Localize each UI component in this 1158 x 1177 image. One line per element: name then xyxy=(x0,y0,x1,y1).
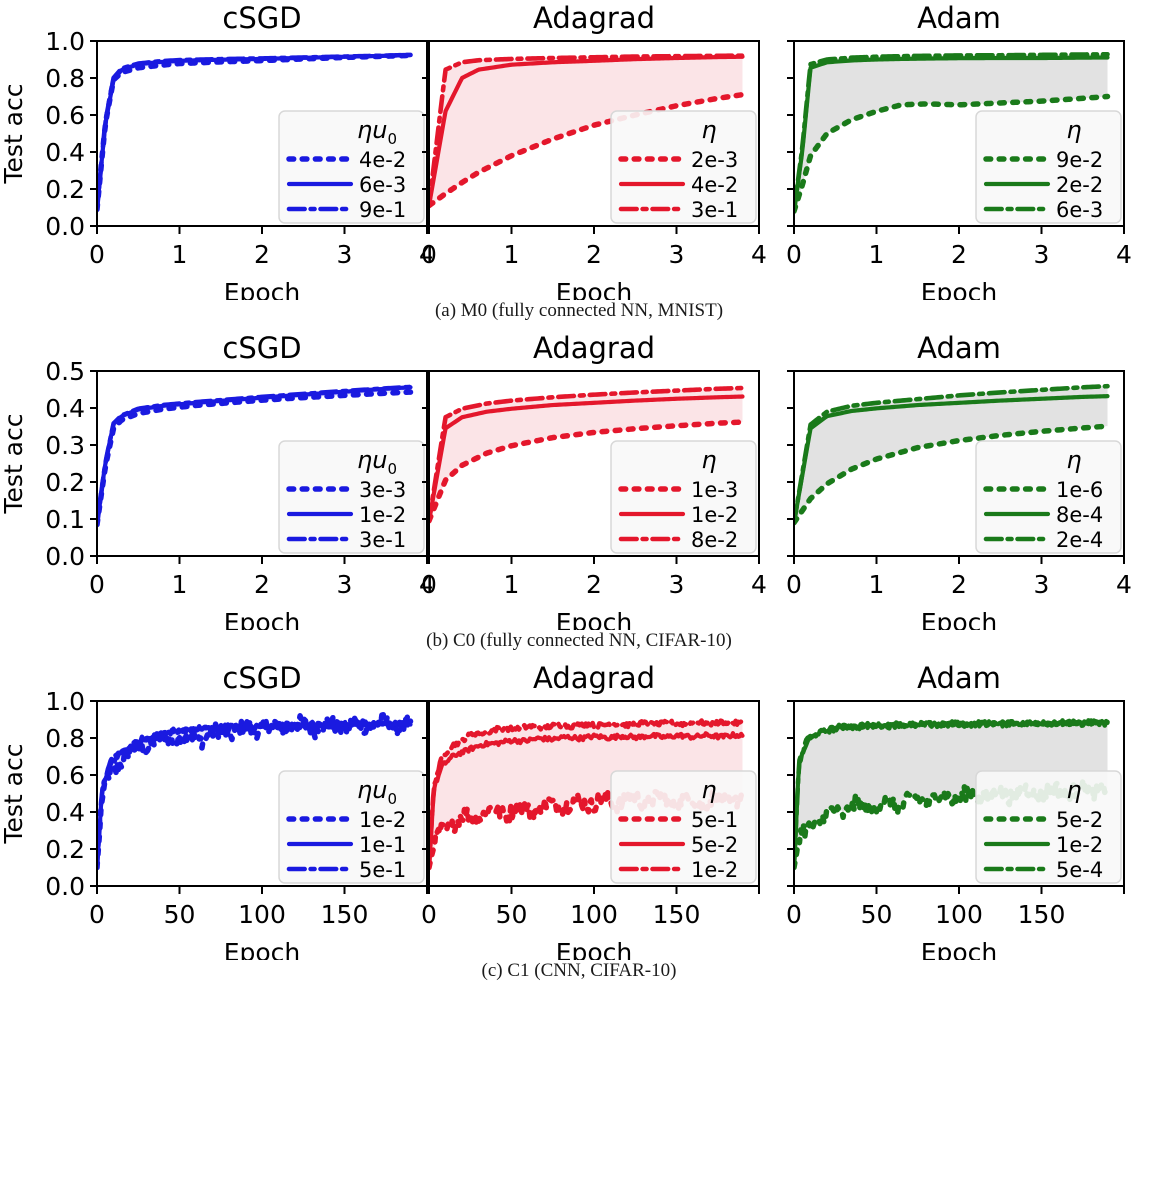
legend-label: 2e-3 xyxy=(691,148,738,172)
panel-adam: Adam01234Epochη1e-68e-42e-4 xyxy=(741,330,1158,630)
panel-adagrad: Adagrad050100150Epochη5e-15e-21e-2 xyxy=(373,660,773,960)
x-axis-label: Epoch xyxy=(556,938,633,960)
row-c: cSGD0.00.20.40.60.81.0050100150EpochTest… xyxy=(0,660,1158,990)
panel-row: cSGD0.00.20.40.60.81.001234EpochTest acc… xyxy=(0,0,1158,300)
panel-adagrad: Adagrad01234Epochη1e-31e-28e-2 xyxy=(373,330,773,630)
legend-title: η xyxy=(1066,116,1081,144)
x-tick-label: 100 xyxy=(570,900,618,929)
legend-title: η xyxy=(1066,446,1081,474)
panel-title: cSGD xyxy=(222,1,301,35)
x-tick-label: 1 xyxy=(504,570,520,599)
legend-label: 1e-2 xyxy=(691,503,738,527)
row-b: cSGD0.00.10.20.30.40.501234EpochTest acc… xyxy=(0,330,1158,660)
y-tick-label: 0.4 xyxy=(45,138,85,167)
x-tick-label: 2 xyxy=(586,240,602,269)
legend: η2e-34e-23e-1 xyxy=(611,111,756,223)
legend-label: 1e-2 xyxy=(691,858,738,882)
panel-csgd: cSGD0.00.20.40.60.81.0050100150EpochTest… xyxy=(0,660,432,960)
y-tick-label: 0.1 xyxy=(45,505,85,534)
plot-row-b-adagrad: Adagrad01234Epochη1e-31e-28e-2 xyxy=(373,330,773,630)
legend-label: 2e-4 xyxy=(1056,528,1103,552)
panel-adagrad: Adagrad01234Epochη2e-34e-23e-1 xyxy=(373,0,773,300)
x-axis-label: Epoch xyxy=(556,278,633,300)
x-tick-label: 150 xyxy=(321,900,369,929)
x-axis-label: Epoch xyxy=(921,608,998,630)
x-tick-label: 2 xyxy=(951,570,967,599)
legend: η9e-22e-26e-3 xyxy=(976,111,1121,223)
x-tick-label: 0 xyxy=(89,900,105,929)
y-tick-label: 0.2 xyxy=(45,175,85,204)
plot-row-c-csgd: cSGD0.00.20.40.60.81.0050100150EpochTest… xyxy=(0,660,432,960)
panel-csgd: cSGD0.00.20.40.60.81.001234EpochTest acc… xyxy=(0,0,432,300)
legend: η1e-31e-28e-2 xyxy=(611,441,756,553)
x-tick-label: 150 xyxy=(1018,900,1066,929)
panel-title: Adagrad xyxy=(533,331,655,365)
legend-label: 1e-2 xyxy=(1056,833,1103,857)
x-tick-label: 1 xyxy=(869,570,885,599)
legend-label: 8e-2 xyxy=(691,528,738,552)
x-tick-label: 50 xyxy=(861,900,893,929)
legend-label: 9e-2 xyxy=(1056,148,1103,172)
legend-title: η xyxy=(701,776,716,804)
panel-title: Adam xyxy=(917,1,1001,35)
plot-row-b-adam: Adam01234Epochη1e-68e-42e-4 xyxy=(741,330,1158,630)
legend-title: η xyxy=(701,116,716,144)
x-tick-label: 3 xyxy=(669,240,685,269)
x-tick-label: 0 xyxy=(89,570,105,599)
y-tick-label: 0.2 xyxy=(45,835,85,864)
panel-csgd: cSGD0.00.10.20.30.40.501234EpochTest acc… xyxy=(0,330,432,630)
x-tick-label: 0 xyxy=(786,240,802,269)
plot-row-a-adam: Adam01234Epochη9e-22e-26e-3 xyxy=(741,0,1158,300)
x-tick-label: 1 xyxy=(504,240,520,269)
y-tick-label: 0.6 xyxy=(45,761,85,790)
x-axis-label: Epoch xyxy=(921,278,998,300)
legend-title: η xyxy=(1066,776,1081,804)
y-tick-label: 0.2 xyxy=(45,468,85,497)
y-axis-label: Test acc xyxy=(0,744,28,845)
x-tick-label: 100 xyxy=(238,900,286,929)
legend-label: 5e-4 xyxy=(1056,858,1103,882)
x-tick-label: 0 xyxy=(421,900,437,929)
legend-title: η xyxy=(701,446,716,474)
panel-title: cSGD xyxy=(222,331,301,365)
x-tick-label: 50 xyxy=(496,900,528,929)
y-tick-label: 0.0 xyxy=(45,872,85,901)
panel-title: Adam xyxy=(917,331,1001,365)
x-tick-label: 0 xyxy=(786,570,802,599)
plot-row-b-csgd: cSGD0.00.10.20.30.40.501234EpochTest acc… xyxy=(0,330,432,630)
legend-label: 1e-3 xyxy=(691,478,738,502)
x-tick-label: 3 xyxy=(337,240,353,269)
plot-row-a-csgd: cSGD0.00.20.40.60.81.001234EpochTest acc… xyxy=(0,0,432,300)
x-axis-label: Epoch xyxy=(556,608,633,630)
panel-row: cSGD0.00.20.40.60.81.0050100150EpochTest… xyxy=(0,660,1158,960)
x-tick-label: 2 xyxy=(254,240,270,269)
y-tick-label: 0.8 xyxy=(45,724,85,753)
x-tick-label: 3 xyxy=(337,570,353,599)
x-tick-label: 0 xyxy=(786,900,802,929)
legend-label: 5e-1 xyxy=(691,808,738,832)
x-tick-label: 0 xyxy=(421,570,437,599)
x-tick-label: 1 xyxy=(869,240,885,269)
legend-label: 1e-6 xyxy=(1056,478,1103,502)
plot-row-a-adagrad: Adagrad01234Epochη2e-34e-23e-1 xyxy=(373,0,773,300)
panel-adam: Adam01234Epochη9e-22e-26e-3 xyxy=(741,0,1158,300)
x-tick-label: 3 xyxy=(669,570,685,599)
y-tick-label: 0.5 xyxy=(45,357,85,386)
plot-row-c-adam: Adam050100150Epochη5e-21e-25e-4 xyxy=(741,660,1158,960)
x-axis-label: Epoch xyxy=(921,938,998,960)
y-tick-label: 0.4 xyxy=(45,798,85,827)
panel-title: Adagrad xyxy=(533,661,655,695)
x-axis-label: Epoch xyxy=(224,608,301,630)
panel-adam: Adam050100150Epochη5e-21e-25e-4 xyxy=(741,660,1158,960)
x-tick-label: 1 xyxy=(172,570,188,599)
x-tick-label: 4 xyxy=(1116,240,1132,269)
figure-container: cSGD0.00.20.40.60.81.001234EpochTest acc… xyxy=(0,0,1158,1177)
x-tick-label: 2 xyxy=(254,570,270,599)
x-tick-label: 0 xyxy=(421,240,437,269)
panel-title: Adam xyxy=(917,661,1001,695)
x-axis-label: Epoch xyxy=(224,938,301,960)
y-tick-label: 0.0 xyxy=(45,542,85,571)
x-tick-label: 4 xyxy=(1116,570,1132,599)
y-axis-label: Test acc xyxy=(0,414,28,515)
legend: η5e-15e-21e-2 xyxy=(611,771,756,883)
legend-label: 8e-4 xyxy=(1056,503,1103,527)
y-tick-label: 0.4 xyxy=(45,394,85,423)
subfigure-caption: (c) C1 (CNN, CIFAR-10) xyxy=(0,960,1158,982)
row-a: cSGD0.00.20.40.60.81.001234EpochTest acc… xyxy=(0,0,1158,330)
legend: η1e-68e-42e-4 xyxy=(976,441,1121,553)
y-axis-label: Test acc xyxy=(0,84,28,185)
y-tick-label: 1.0 xyxy=(45,687,85,716)
subfigure-caption: (a) M0 (fully connected NN, MNIST) xyxy=(0,300,1158,322)
x-tick-label: 2 xyxy=(586,570,602,599)
x-tick-label: 3 xyxy=(1034,240,1050,269)
subfigure-caption: (b) C0 (fully connected NN, CIFAR-10) xyxy=(0,630,1158,652)
x-tick-label: 50 xyxy=(164,900,196,929)
legend-label: 3e-1 xyxy=(691,198,738,222)
y-tick-label: 0.6 xyxy=(45,101,85,130)
y-tick-label: 0.3 xyxy=(45,431,85,460)
x-tick-label: 150 xyxy=(653,900,701,929)
panel-title: Adagrad xyxy=(533,1,655,35)
legend-label: 5e-2 xyxy=(1056,808,1103,832)
x-tick-label: 3 xyxy=(1034,570,1050,599)
x-axis-label: Epoch xyxy=(224,278,301,300)
y-tick-label: 0.0 xyxy=(45,212,85,241)
y-tick-label: 1.0 xyxy=(45,27,85,56)
x-tick-label: 1 xyxy=(172,240,188,269)
legend-label: 5e-2 xyxy=(691,833,738,857)
legend-label: 4e-2 xyxy=(691,173,738,197)
legend-label: 2e-2 xyxy=(1056,173,1103,197)
x-tick-label: 2 xyxy=(951,240,967,269)
x-tick-label: 0 xyxy=(89,240,105,269)
panel-title: cSGD xyxy=(222,661,301,695)
legend: η5e-21e-25e-4 xyxy=(976,771,1121,883)
legend-label: 6e-3 xyxy=(1056,198,1103,222)
x-tick-label: 100 xyxy=(935,900,983,929)
y-tick-label: 0.8 xyxy=(45,64,85,93)
plot-row-c-adagrad: Adagrad050100150Epochη5e-15e-21e-2 xyxy=(373,660,773,960)
panel-row: cSGD0.00.10.20.30.40.501234EpochTest acc… xyxy=(0,330,1158,630)
